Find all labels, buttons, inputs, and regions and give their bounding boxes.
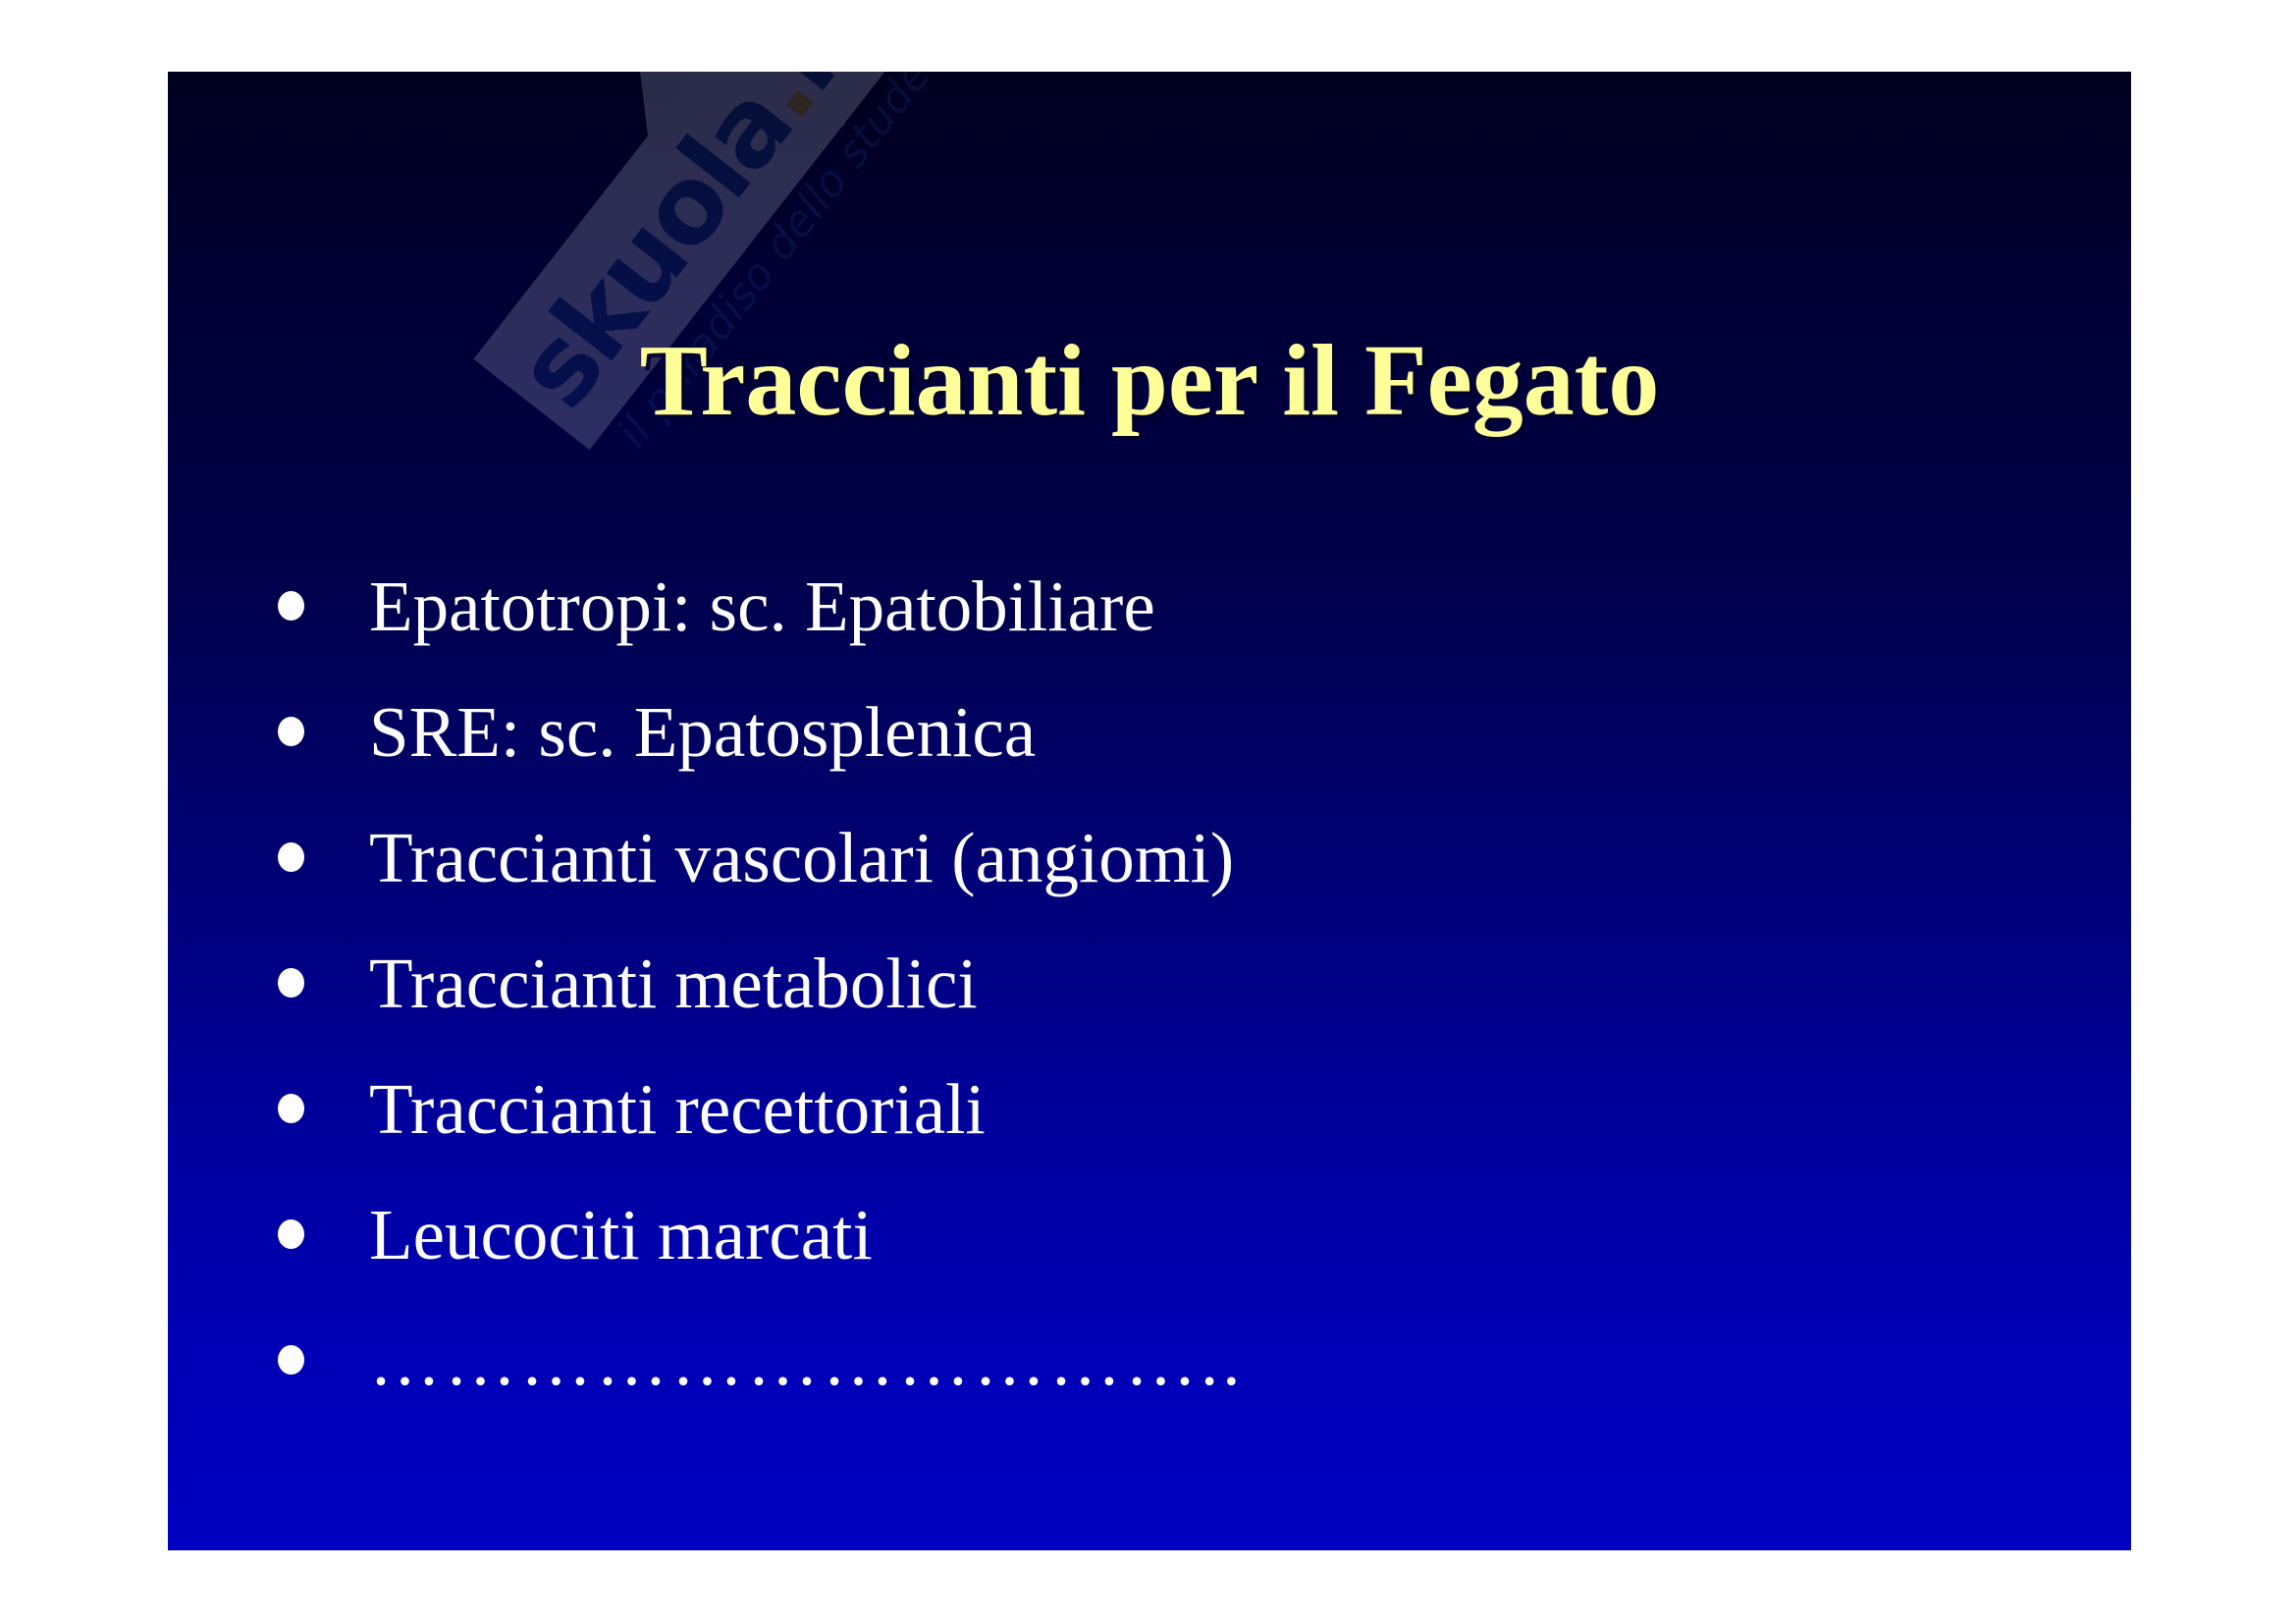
watermark-brand-dot: . [719,72,837,141]
bullet-dot-icon [278,1219,304,1249]
list-item-label: …………………………….. [369,1325,1245,1396]
watermark-brand-right: net [741,72,952,113]
list-item-label: Traccianti recettoriali [369,1073,986,1145]
bullet-dot-icon [278,842,304,872]
slide-title: Traccianti per il Fegato [168,322,2131,439]
slide-canvas: skuola.net il paradiso dello studente Tr… [168,72,2131,1550]
list-item: Epatotropi: sc. Epatobiliare [168,543,2131,669]
list-item-label: Traccianti vascolari (angiomi) [369,822,1234,893]
bullet-dot-icon [278,968,304,998]
list-item-label: SRE: sc. Epatosplenica [369,696,1036,768]
bullet-dot-icon [278,1345,304,1375]
bullet-dot-icon [278,1094,304,1123]
list-item: …………………………….. [168,1297,2131,1423]
list-item: Leucociti marcati [168,1171,2131,1297]
bullet-dot-icon [278,591,304,621]
bullet-list: Epatotropi: sc. Epatobiliare SRE: sc. Ep… [168,543,2131,1423]
list-item: Traccianti metabolici [168,920,2131,1046]
list-item-label: Traccianti metabolici [369,947,978,1019]
list-item-label: Leucociti marcati [369,1199,873,1271]
bullet-dot-icon [278,717,304,746]
list-item: Traccianti recettoriali [168,1046,2131,1171]
watermark-swoosh-shape [625,72,844,149]
list-item: Traccianti vascolari (angiomi) [168,794,2131,920]
list-item-label: Epatotropi: sc. Epatobiliare [369,570,1155,642]
list-item: SRE: sc. Epatosplenica [168,669,2131,794]
